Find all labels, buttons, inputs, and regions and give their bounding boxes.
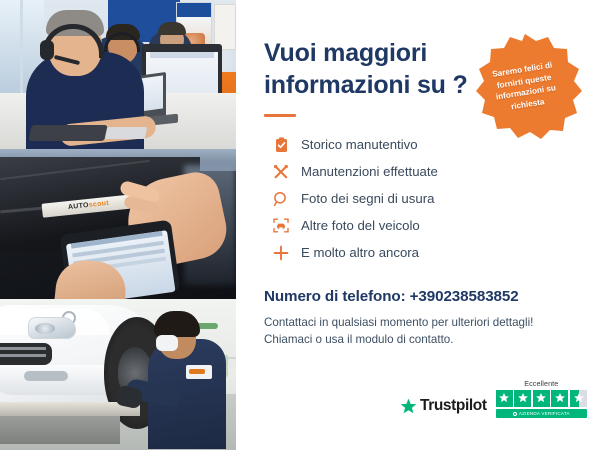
contact-line-1: Contattaci in qualsiasi momento per ulte… — [264, 316, 533, 329]
call-center-agents-photo — [0, 0, 236, 149]
trustpilot-star-icon — [400, 398, 417, 415]
trustpilot-stars — [496, 390, 587, 407]
feature-list: Storico manutentivo Manutenzioni effettu… — [270, 131, 600, 266]
trustpilot-rating-label: Eccellente — [524, 379, 558, 388]
clipboard-check-icon — [270, 136, 292, 154]
star-filled — [551, 390, 568, 407]
feature-item-altro: E molto altro ancora — [270, 239, 600, 266]
keyboard-dark — [28, 125, 107, 141]
advertisement-banner: AUTOscout — [0, 0, 600, 450]
star-half — [570, 390, 587, 407]
vehicle-inspection-tool-photo: AUTOscout — [0, 149, 236, 299]
feature-label: Storico manutentivo — [301, 137, 418, 152]
photo-frame-car-icon — [270, 217, 292, 235]
accent-divider — [264, 114, 296, 117]
star-filled — [514, 390, 531, 407]
feature-label: E molto altro ancora — [301, 245, 419, 260]
mechanic-face-mask — [156, 335, 178, 351]
mechanic-hair — [154, 311, 200, 337]
car-grille — [0, 343, 52, 365]
mechanic-tire-inspection-photo — [0, 299, 236, 450]
lift-base — [0, 416, 120, 444]
verified-business-label: AZIENDA VERIFICATA — [519, 411, 570, 416]
feature-label: Foto dei segni di usura — [301, 191, 434, 206]
mechanic-uniform-badge — [186, 365, 212, 379]
feature-item-manutenzioni: Manutenzioni effettuate — [270, 158, 600, 185]
contact-line-2: Chiamaci o usa il modulo di contatto. — [264, 333, 453, 346]
verified-business-badge: AZIENDA VERIFICATA — [496, 409, 587, 418]
trustpilot-rating[interactable]: Trustpilot Eccellente AZIENDA VERIFICATA — [400, 379, 587, 419]
feature-item-altre-foto: Altre foto del veicolo — [270, 212, 600, 239]
background-agent-2-hair — [158, 22, 186, 35]
magnifier-icon — [270, 190, 292, 208]
contact-description: Contattaci in qualsiasi momento per ulte… — [264, 314, 564, 348]
star-filled — [533, 390, 550, 407]
verified-check-icon — [513, 412, 517, 416]
trustpilot-score-block: Eccellente AZIENDA VERIFICATA — [496, 379, 587, 419]
feature-label: Manutenzioni effettuate — [301, 164, 438, 179]
feature-item-foto-usura: Foto dei segni di usura — [270, 185, 600, 212]
foreground-agent-headset-cup — [40, 40, 54, 60]
trustpilot-wordmark: Trustpilot — [420, 397, 487, 415]
car-fog-light — [24, 371, 68, 381]
star-filled — [496, 390, 513, 407]
tools-wrench-icon — [270, 163, 292, 181]
headset-icon — [458, 38, 483, 59]
trustpilot-logo: Trustpilot — [400, 397, 487, 418]
car-headlight — [28, 317, 76, 339]
promo-badge-text: Saremo felici di fornirti queste informa… — [479, 58, 571, 117]
phone-number-label[interactable]: Numero di telefono: +390238583852 — [264, 288, 600, 305]
plus-icon — [270, 244, 292, 262]
content-panel: Vuoi maggiori informazioni su ? Saremo f… — [236, 0, 600, 450]
keyboard-light — [105, 127, 148, 139]
photo-column: AUTOscout — [0, 0, 236, 450]
feature-label: Altre foto del veicolo — [301, 218, 420, 233]
promo-starburst-badge: Saremo felici di fornirti queste informa… — [466, 32, 584, 142]
